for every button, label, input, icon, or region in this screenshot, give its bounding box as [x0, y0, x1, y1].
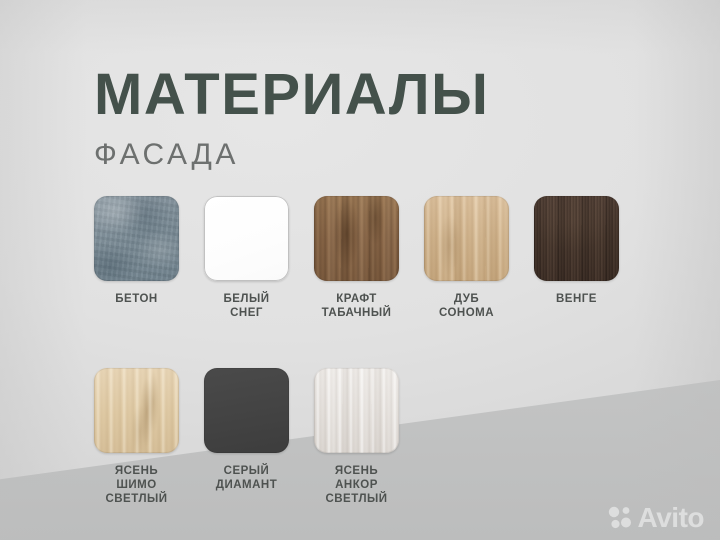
- swatch-yasen-ankor-svetlyy[interactable]: [314, 368, 399, 453]
- swatch-beton[interactable]: [94, 196, 179, 281]
- swatch-label: ЯСЕНЬ ШИМО СВЕТЛЫЙ: [94, 464, 179, 506]
- page-subtitle: ФАСАДА: [94, 140, 489, 170]
- swatch-label: БЕТОН: [115, 292, 157, 306]
- swatch-label: КРАФТ ТАБАЧНЫЙ: [322, 292, 392, 320]
- avito-watermark: Avito: [607, 504, 704, 532]
- swatch-yasen-shimo-svetlyy[interactable]: [94, 368, 179, 453]
- materials-poster: МАТЕРИАЛЫ ФАСАДА БЕТОН БЕЛЫЙ СНЕГ КРАФТ …: [0, 0, 720, 540]
- heading-block: МАТЕРИАЛЫ ФАСАДА: [94, 66, 489, 170]
- swatch-row: БЕТОН БЕЛЫЙ СНЕГ КРАФТ ТАБАЧНЫЙ ДУБ СОНО…: [94, 196, 642, 320]
- avito-wordmark: Avito: [638, 504, 704, 532]
- swatch-item[interactable]: ЯСЕНЬ АНКОР СВЕТЛЫЙ: [314, 368, 399, 506]
- swatch-grid: БЕТОН БЕЛЫЙ СНЕГ КРАФТ ТАБАЧНЫЙ ДУБ СОНО…: [94, 196, 642, 506]
- swatch-belyy-sneg[interactable]: [204, 196, 289, 281]
- swatch-label: ЯСЕНЬ АНКОР СВЕТЛЫЙ: [314, 464, 399, 506]
- swatch-kraft-tabachnyy[interactable]: [314, 196, 399, 281]
- swatch-item[interactable]: КРАФТ ТАБАЧНЫЙ: [314, 196, 399, 320]
- swatch-row: ЯСЕНЬ ШИМО СВЕТЛЫЙ СЕРЫЙ ДИАМАНТ ЯСЕНЬ А…: [94, 368, 642, 506]
- swatch-item[interactable]: БЕЛЫЙ СНЕГ: [204, 196, 289, 320]
- swatch-item[interactable]: ЯСЕНЬ ШИМО СВЕТЛЫЙ: [94, 368, 179, 506]
- swatch-label: ДУБ СОНОМА: [439, 292, 494, 320]
- swatch-label: БЕЛЫЙ СНЕГ: [223, 292, 269, 320]
- swatch-label: ВЕНГЕ: [556, 292, 597, 306]
- swatch-item[interactable]: СЕРЫЙ ДИАМАНТ: [204, 368, 289, 506]
- avito-dots-icon: [607, 505, 633, 531]
- swatch-venge[interactable]: [534, 196, 619, 281]
- swatch-seryy-diamant[interactable]: [204, 368, 289, 453]
- swatch-dub-sonoma[interactable]: [424, 196, 509, 281]
- swatch-item[interactable]: ВЕНГЕ: [534, 196, 619, 320]
- swatch-item[interactable]: БЕТОН: [94, 196, 179, 320]
- swatch-item[interactable]: ДУБ СОНОМА: [424, 196, 509, 320]
- swatch-label: СЕРЫЙ ДИАМАНТ: [216, 464, 277, 492]
- page-title: МАТЕРИАЛЫ: [94, 66, 489, 124]
